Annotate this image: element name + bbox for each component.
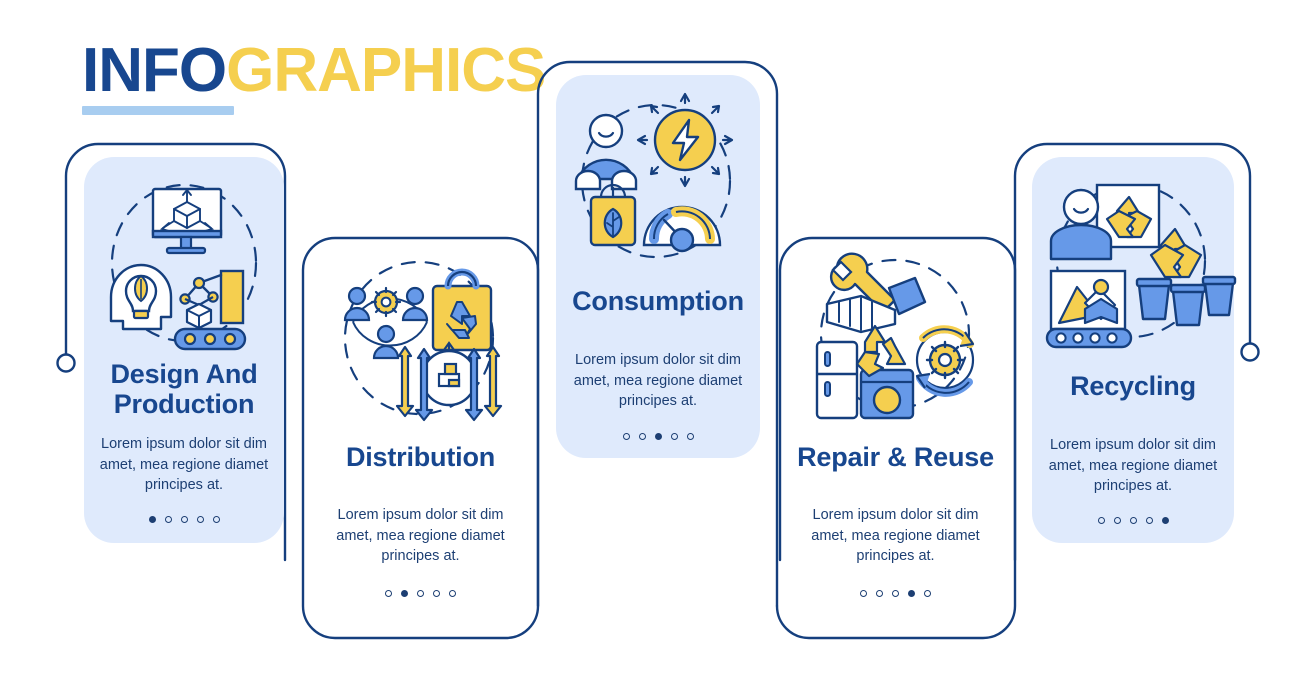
step-1-progress-dots[interactable] (84, 516, 284, 523)
step-4-progress-dots[interactable] (788, 590, 1003, 597)
design-production-icon (95, 171, 273, 361)
recycling-icon (1041, 167, 1225, 353)
progress-dot[interactable] (639, 433, 646, 440)
progress-dot[interactable] (892, 590, 899, 597)
progress-dot[interactable] (687, 433, 694, 440)
progress-dot[interactable] (671, 433, 678, 440)
step-5-progress-dots[interactable] (1032, 517, 1234, 524)
progress-dot[interactable] (1146, 517, 1153, 524)
progress-dot[interactable] (181, 516, 188, 523)
step-2-progress-dots[interactable] (313, 590, 528, 597)
step-2-body: Lorem ipsum dolor sit dim amet, mea regi… (313, 505, 528, 567)
progress-dot[interactable] (165, 516, 172, 523)
step-4-title: Repair & Reuse (788, 442, 1003, 472)
step-3-body: Lorem ipsum dolor sit dim amet, mea regi… (556, 350, 760, 412)
progress-dot[interactable] (401, 590, 408, 597)
step-card-3[interactable]: Consumption Lorem ipsum dolor sit dim am… (556, 75, 760, 458)
step-3-title: Consumption (556, 286, 760, 316)
progress-dot[interactable] (876, 590, 883, 597)
step-1-title: Design And Production (84, 359, 284, 419)
progress-dot[interactable] (623, 433, 630, 440)
step-1-body: Lorem ipsum dolor sit dim amet, mea regi… (84, 434, 284, 496)
infographic-canvas: INFOGRAPHICS (0, 0, 1316, 700)
progress-dot[interactable] (449, 590, 456, 597)
start-node-icon (58, 355, 75, 372)
step-5-title: Recycling (1032, 371, 1234, 401)
progress-dot[interactable] (433, 590, 440, 597)
progress-dot[interactable] (213, 516, 220, 523)
progress-dot[interactable] (417, 590, 424, 597)
progress-dot[interactable] (924, 590, 931, 597)
consumption-icon (568, 93, 748, 269)
progress-dot[interactable] (655, 433, 662, 440)
progress-dot[interactable] (1162, 517, 1169, 524)
progress-dot[interactable] (385, 590, 392, 597)
step-5-body: Lorem ipsum dolor sit dim amet, mea regi… (1032, 435, 1234, 497)
step-card-2[interactable]: Distribution Lorem ipsum dolor sit dim a… (313, 250, 528, 628)
progress-dot[interactable] (197, 516, 204, 523)
progress-dot[interactable] (149, 516, 156, 523)
repair-reuse-icon (803, 238, 989, 424)
progress-dot[interactable] (860, 590, 867, 597)
step-card-4[interactable]: Repair & Reuse Lorem ipsum dolor sit dim… (788, 250, 1003, 628)
end-node-icon (1242, 344, 1259, 361)
distribution-icon (331, 250, 511, 430)
progress-dot[interactable] (1114, 517, 1121, 524)
progress-dot[interactable] (1098, 517, 1105, 524)
step-3-progress-dots[interactable] (556, 433, 760, 440)
progress-dot[interactable] (1130, 517, 1137, 524)
step-card-5[interactable]: Recycling Lorem ipsum dolor sit dim amet… (1032, 157, 1234, 543)
step-2-title: Distribution (313, 442, 528, 472)
step-4-body: Lorem ipsum dolor sit dim amet, mea regi… (788, 505, 1003, 567)
progress-dot[interactable] (908, 590, 915, 597)
step-card-1[interactable]: Design And Production Lorem ipsum dolor … (84, 157, 284, 543)
